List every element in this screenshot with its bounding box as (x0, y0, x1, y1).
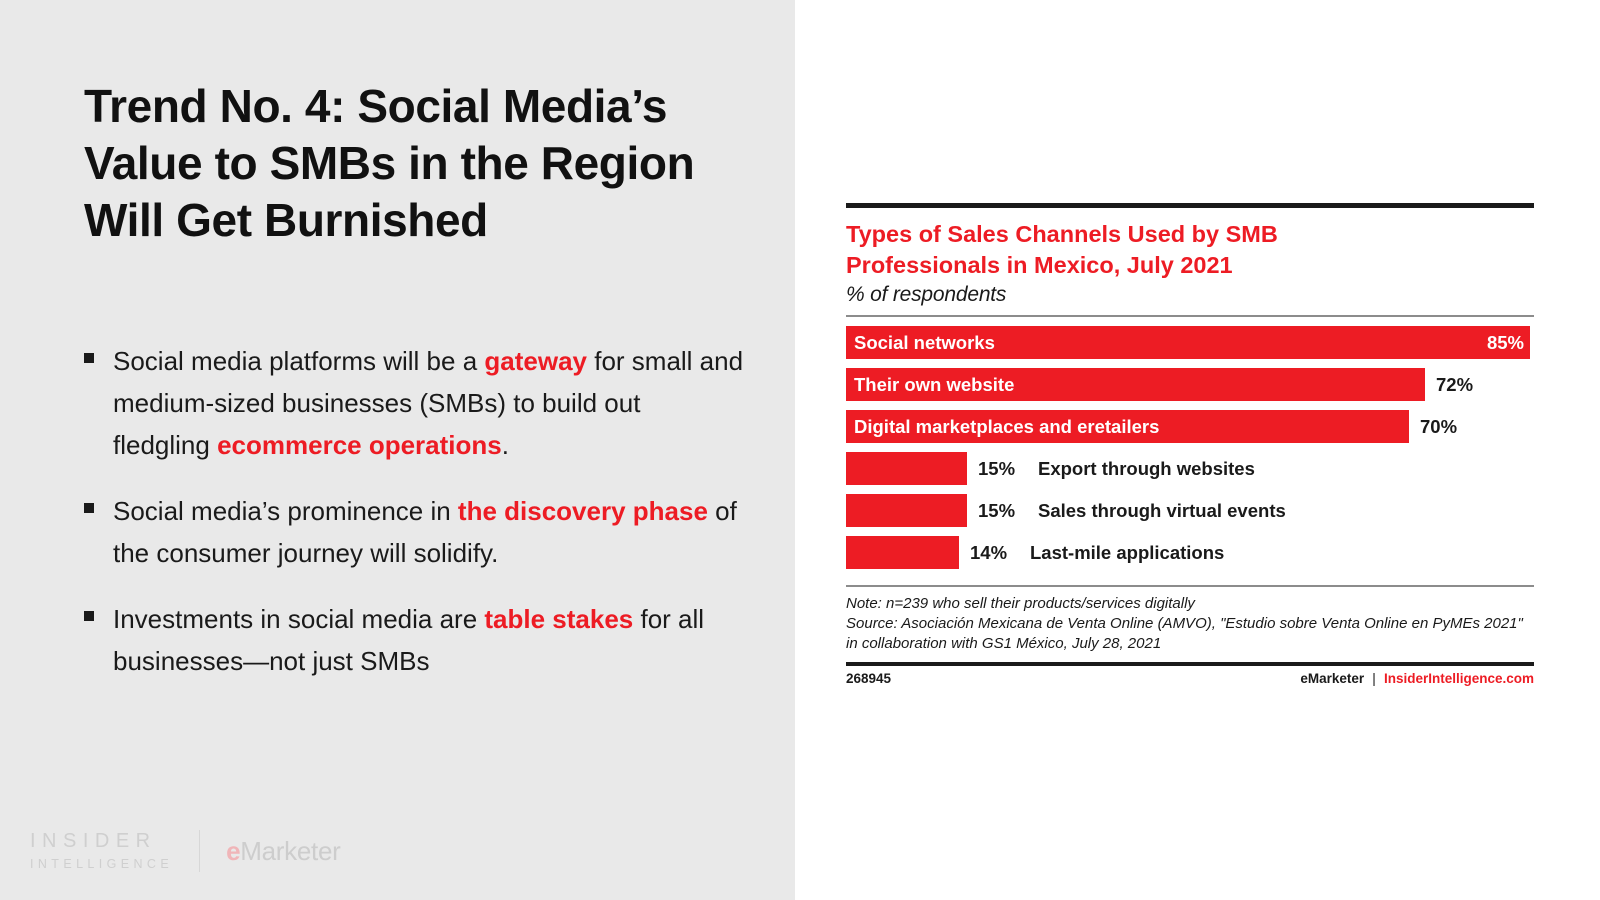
table-row: 14% Last-mile applications (846, 536, 1534, 569)
brand-emarketer-label: eMarketer (1300, 671, 1364, 686)
bar-2-category: Digital marketplaces and eretailers (854, 410, 1159, 443)
bullet-1-seg-1-highlight: gateway (484, 346, 587, 376)
bar-0-value: 85% (1487, 326, 1524, 359)
bullet-3-seg-1-highlight: table stakes (484, 604, 633, 634)
list-item: Social media’s prominence in the discove… (84, 490, 744, 574)
chart-subtitle: % of respondents (846, 283, 1534, 307)
square-bullet-icon (84, 353, 94, 363)
chart-footer-rule (846, 662, 1534, 666)
bullet-1-seg-4: . (502, 430, 509, 460)
insider-wordmark: INSIDER (30, 831, 173, 851)
emarketer-logo: eMarketer (226, 836, 340, 867)
bullet-text-1: Social media platforms will be a gateway… (113, 340, 744, 466)
brand-logo-lockup: INSIDER INTELLIGENCE eMarketer (30, 830, 340, 872)
chart-header-rule (846, 315, 1534, 317)
emarketer-wordmark: Marketer (240, 836, 340, 866)
square-bullet-icon (84, 611, 94, 621)
page-title: Trend No. 4: Social Media’s Value to SMB… (84, 78, 744, 249)
square-bullet-icon (84, 503, 94, 513)
bar-4 (846, 494, 967, 527)
bullet-text-2: Social media’s prominence in the discove… (113, 490, 744, 574)
table-row: 15% Sales through virtual events (846, 494, 1534, 527)
logo-divider (199, 830, 200, 872)
table-row: Digital marketplaces and eretailers 70% (846, 410, 1534, 443)
slide-canvas: Trend No. 4: Social Media’s Value to SMB… (0, 0, 1600, 900)
bar-1-value: 72% (1436, 368, 1473, 401)
table-row: Their own website 72% (846, 368, 1534, 401)
list-item: Social media platforms will be a gateway… (84, 340, 744, 466)
chart-card: Types of Sales Channels Used by SMB Prof… (846, 203, 1534, 686)
bar-2-value: 70% (1420, 410, 1457, 443)
brand-site-link[interactable]: InsiderIntelligence.com (1384, 671, 1534, 686)
chart-note-block: Note: n=239 who sell their products/serv… (846, 594, 1534, 654)
bar-3 (846, 452, 967, 485)
bar-3-value: 15% (978, 452, 1015, 485)
bullet-3-seg-0: Investments in social media are (113, 604, 484, 634)
chart-brand: eMarketer | InsiderIntelligence.com (1300, 671, 1534, 686)
chart-note-rule (846, 585, 1534, 587)
emarketer-e-mark: e (226, 836, 240, 866)
chart-footer: 268945 eMarketer | InsiderIntelligence.c… (846, 671, 1534, 686)
bullet-text-3: Investments in social media are table st… (113, 598, 744, 682)
left-content-panel: Trend No. 4: Social Media’s Value to SMB… (0, 0, 795, 900)
chart-top-rule (846, 203, 1534, 208)
table-row: Social networks 85% (846, 326, 1534, 359)
bullet-1-seg-3-highlight: ecommerce operations (217, 430, 502, 460)
bar-5-category: Last-mile applications (1030, 536, 1224, 569)
bar-0-category: Social networks (854, 326, 995, 359)
intelligence-wordmark: INTELLIGENCE (30, 858, 173, 871)
bar-5 (846, 536, 959, 569)
chart-note-line: Note: n=239 who sell their products/serv… (846, 594, 1534, 614)
list-item: Investments in social media are table st… (84, 598, 744, 682)
bar-4-category: Sales through virtual events (1038, 494, 1286, 527)
chart-id: 268945 (846, 671, 891, 686)
bar-3-category: Export through websites (1038, 452, 1255, 485)
bullet-list: Social media platforms will be a gateway… (84, 340, 744, 706)
table-row: 15% Export through websites (846, 452, 1534, 485)
bullet-1-seg-0: Social media platforms will be a (113, 346, 484, 376)
bar-1-category: Their own website (854, 368, 1014, 401)
insider-intelligence-logo: INSIDER INTELLIGENCE (30, 831, 173, 871)
bar-chart-plot: Social networks 85% Their own website 72… (846, 326, 1534, 569)
chart-title: Types of Sales Channels Used by SMB Prof… (846, 219, 1386, 281)
bullet-2-seg-0: Social media’s prominence in (113, 496, 458, 526)
bar-4-value: 15% (978, 494, 1015, 527)
chart-source-line: Source: Asociación Mexicana de Venta Onl… (846, 614, 1534, 654)
bullet-2-seg-1-highlight: the discovery phase (458, 496, 708, 526)
bar-5-value: 14% (970, 536, 1007, 569)
brand-separator: | (1372, 671, 1376, 686)
